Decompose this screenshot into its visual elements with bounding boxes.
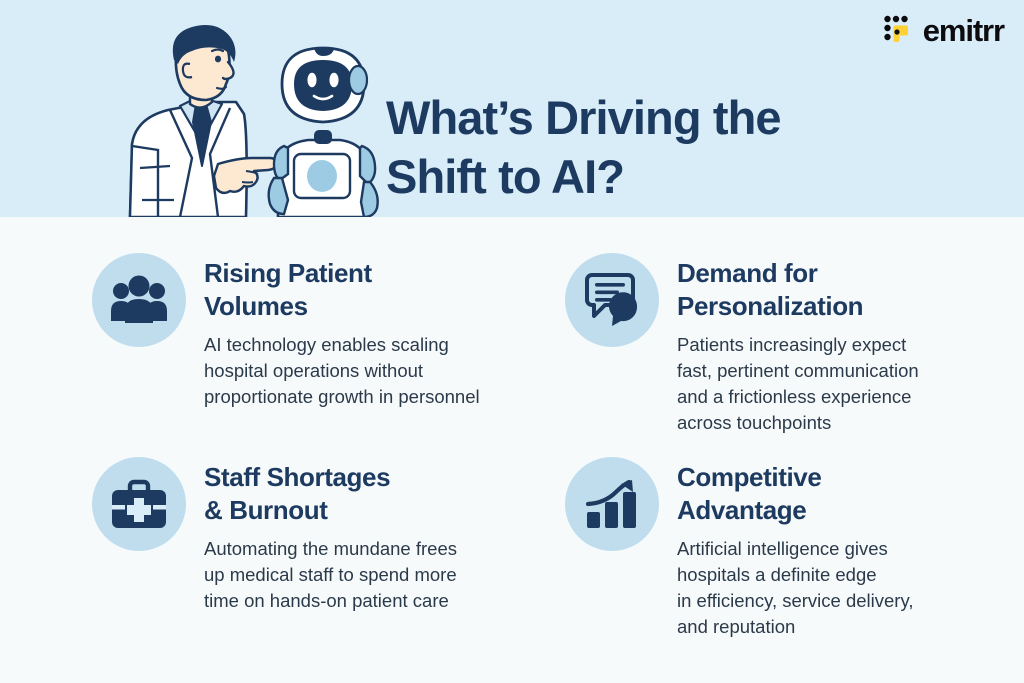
card-description: Artificial intelligence gives hospitals … <box>677 536 913 641</box>
benefit-card-text: Staff Shortages & Burnout Automating the… <box>204 457 457 614</box>
card-title: Staff Shortages & Burnout <box>204 461 457 528</box>
card-description: Automating the mundane frees up medical … <box>204 536 457 615</box>
brand-logo[interactable]: emitrr <box>884 12 1004 48</box>
card-title: Competitive Advantage <box>677 461 913 528</box>
card-title: Demand for Personalization <box>677 257 919 324</box>
benefits-grid: Rising Patient Volumes AI technology ena… <box>0 217 1024 683</box>
benefit-card-demand-for-personalization: Demand for Personalization Patients incr… <box>565 253 1015 437</box>
benefit-card-text: Rising Patient Volumes AI technology ena… <box>204 253 480 410</box>
doctor-and-robot-illustration <box>118 18 380 217</box>
growth-chart-icon <box>565 457 659 551</box>
benefit-card-staff-shortages-burnout: Staff Shortages & Burnout Automating the… <box>92 457 552 614</box>
benefit-card-competitive-advantage: Competitive Advantage Artificial intelli… <box>565 457 1015 641</box>
card-description: AI technology enables scaling hospital o… <box>204 332 480 411</box>
medical-bag-icon <box>92 457 186 551</box>
card-description: Patients increasingly expect fast, perti… <box>677 332 919 437</box>
card-title: Rising Patient Volumes <box>204 257 480 324</box>
benefit-card-text: Demand for Personalization Patients incr… <box>677 253 919 437</box>
benefit-card-rising-patient-volumes: Rising Patient Volumes AI technology ena… <box>92 253 552 410</box>
header-band: What’s Driving the Shift to AI? emitrr <box>0 0 1024 217</box>
page-title: What’s Driving the Shift to AI? <box>386 89 816 207</box>
brand-logo-text: emitrr <box>923 15 1004 46</box>
people-group-icon <box>92 253 186 347</box>
infographic-page: What’s Driving the Shift to AI? emitrr <box>0 0 1024 683</box>
chat-bubbles-icon <box>565 253 659 347</box>
emitrr-dots-mark-icon <box>884 15 914 45</box>
benefit-card-text: Competitive Advantage Artificial intelli… <box>677 457 913 641</box>
